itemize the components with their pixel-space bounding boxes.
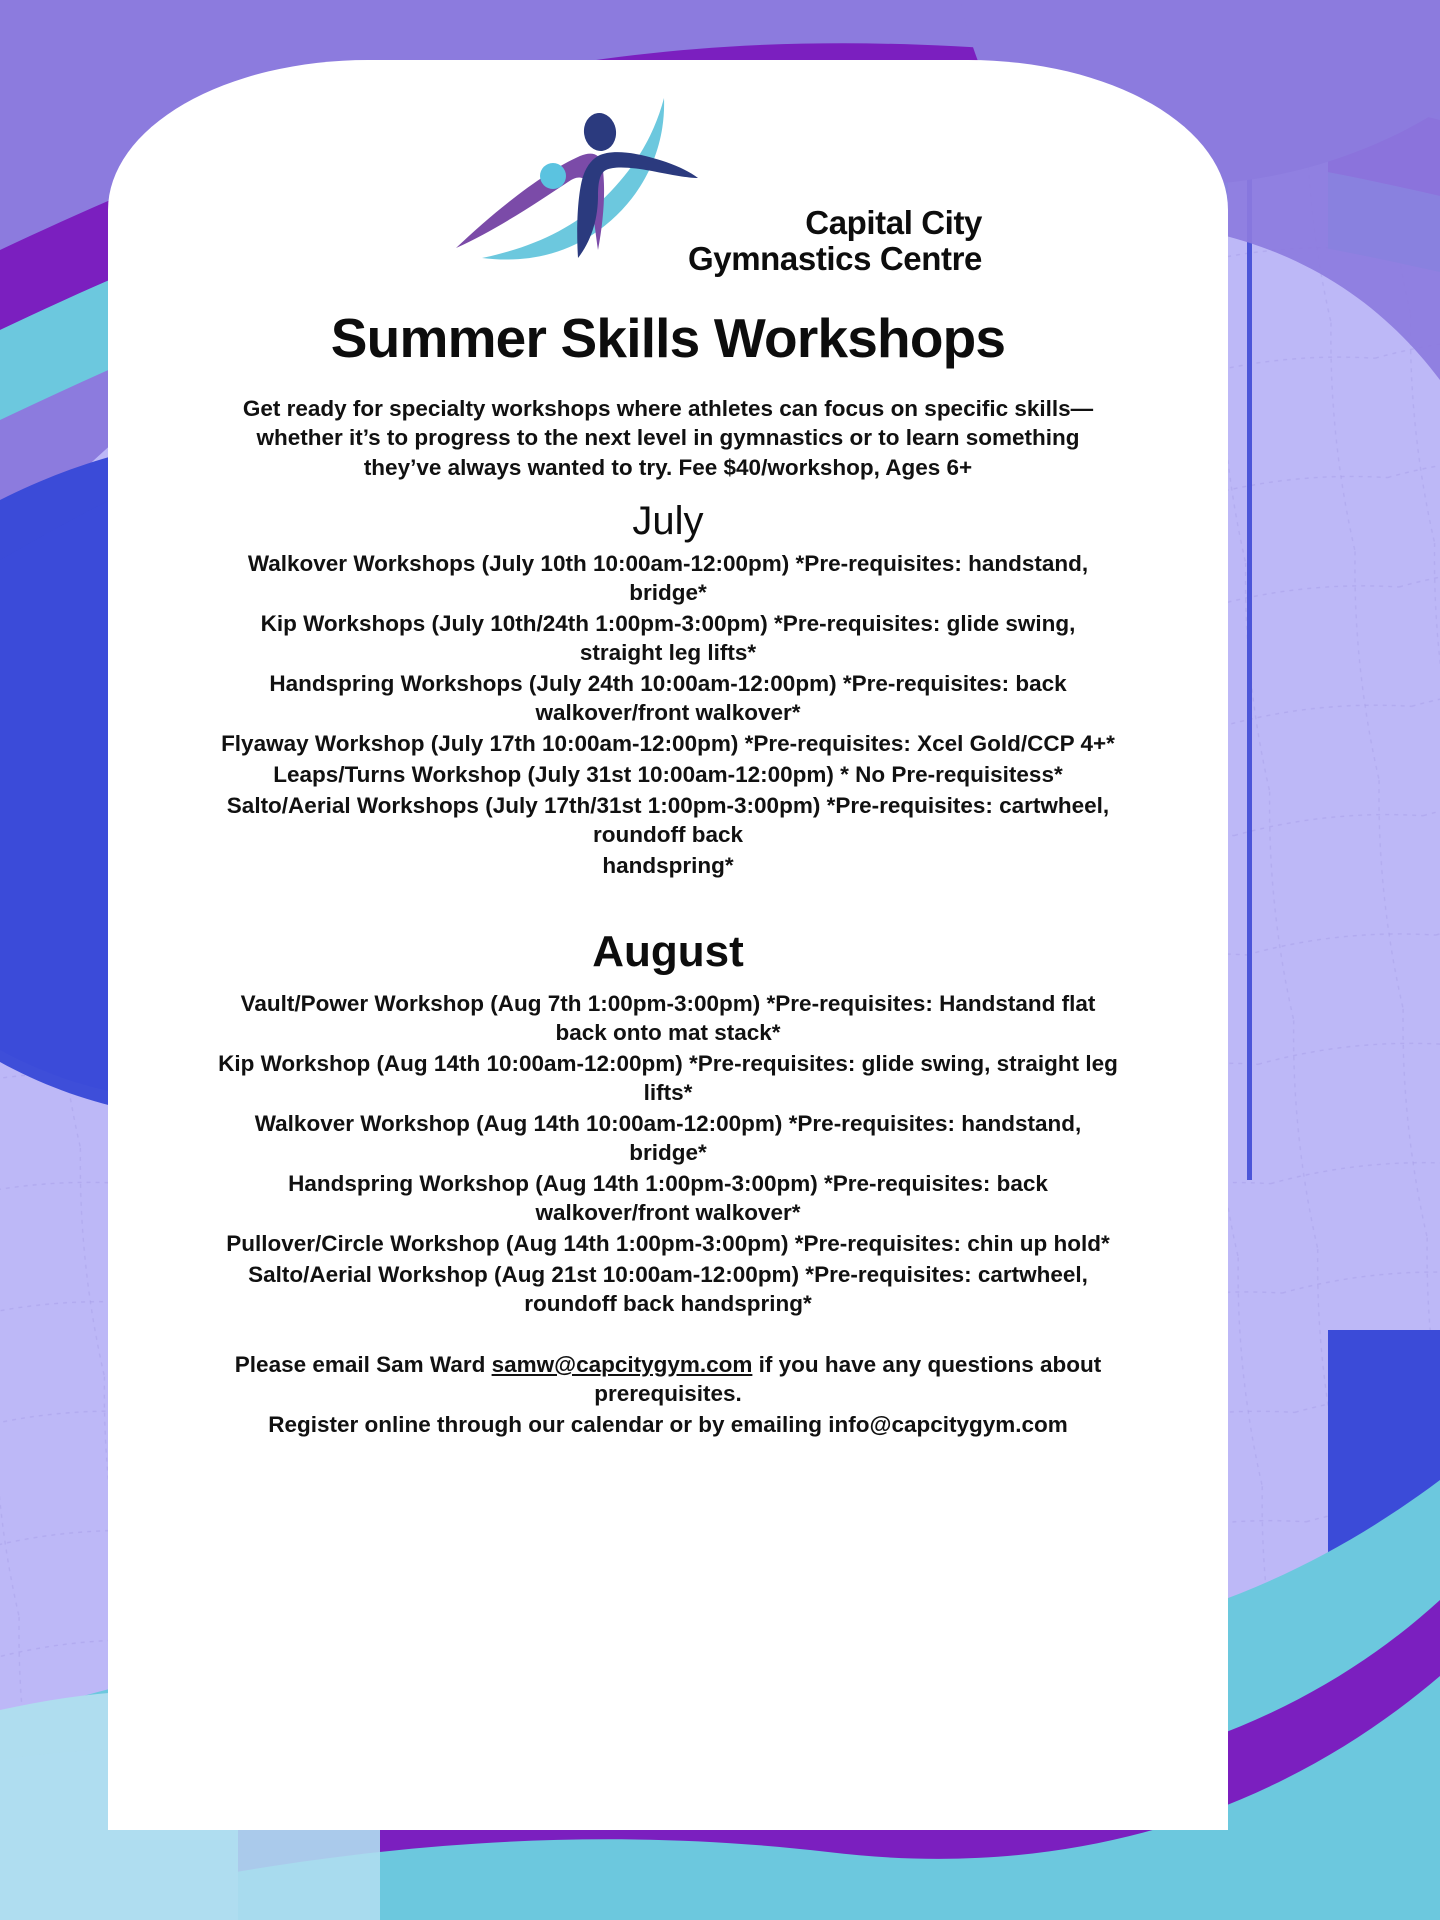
footer-spacer xyxy=(162,1320,1174,1350)
brand-line-2: Gymnastics Centre xyxy=(462,241,982,277)
workshop-item-continued: handspring* xyxy=(218,851,1118,880)
workshop-item: Vault/Power Workshop (Aug 7th 1:00pm-3:0… xyxy=(218,989,1118,1047)
workshop-item: Walkover Workshops (July 10th 10:00am-12… xyxy=(218,549,1118,607)
workshop-item: Pullover/Circle Workshop (Aug 14th 1:00p… xyxy=(218,1229,1118,1258)
section-heading-august: August xyxy=(162,926,1174,979)
contact-line: Please email Sam Ward samw@capcitygym.co… xyxy=(218,1350,1118,1409)
brand-wordmark: Capital City Gymnastics Centre xyxy=(462,205,982,276)
contact-prefix: Please email Sam Ward xyxy=(235,1352,492,1377)
workshop-item: Salto/Aerial Workshops (July 17th/31st 1… xyxy=(218,791,1118,849)
workshop-item: Leaps/Turns Workshop (July 31st 10:00am-… xyxy=(218,760,1118,789)
register-line: Register online through our calendar or … xyxy=(218,1410,1118,1439)
workshop-item: Kip Workshops (July 10th/24th 1:00pm-3:0… xyxy=(218,609,1118,667)
brand-line-1: Capital City xyxy=(462,205,982,241)
page-title: Summer Skills Workshops xyxy=(162,310,1174,368)
section-heading-july: July xyxy=(162,497,1174,545)
workshop-item: Handspring Workshops (July 24th 10:00am-… xyxy=(218,669,1118,727)
brand-logo: Capital City Gymnastics Centre xyxy=(162,80,1174,310)
intro-paragraph: Get ready for specialty workshops where … xyxy=(228,394,1108,483)
workshop-item: Salto/Aerial Workshop (Aug 21st 10:00am-… xyxy=(218,1260,1118,1318)
poster-root: Capital City Gymnastics Centre Summer Sk… xyxy=(0,0,1440,1920)
workshop-item: Handspring Workshop (Aug 14th 1:00pm-3:0… xyxy=(218,1169,1118,1227)
workshop-item: Kip Workshop (Aug 14th 10:00am-12:00pm) … xyxy=(218,1049,1118,1107)
poster-content: Capital City Gymnastics Centre Summer Sk… xyxy=(108,60,1228,1830)
contact-email-link[interactable]: samw@capcitygym.com xyxy=(492,1352,753,1377)
workshop-item: Flyaway Workshop (July 17th 10:00am-12:0… xyxy=(218,729,1118,758)
workshop-item: Walkover Workshop (Aug 14th 10:00am-12:0… xyxy=(218,1109,1118,1167)
